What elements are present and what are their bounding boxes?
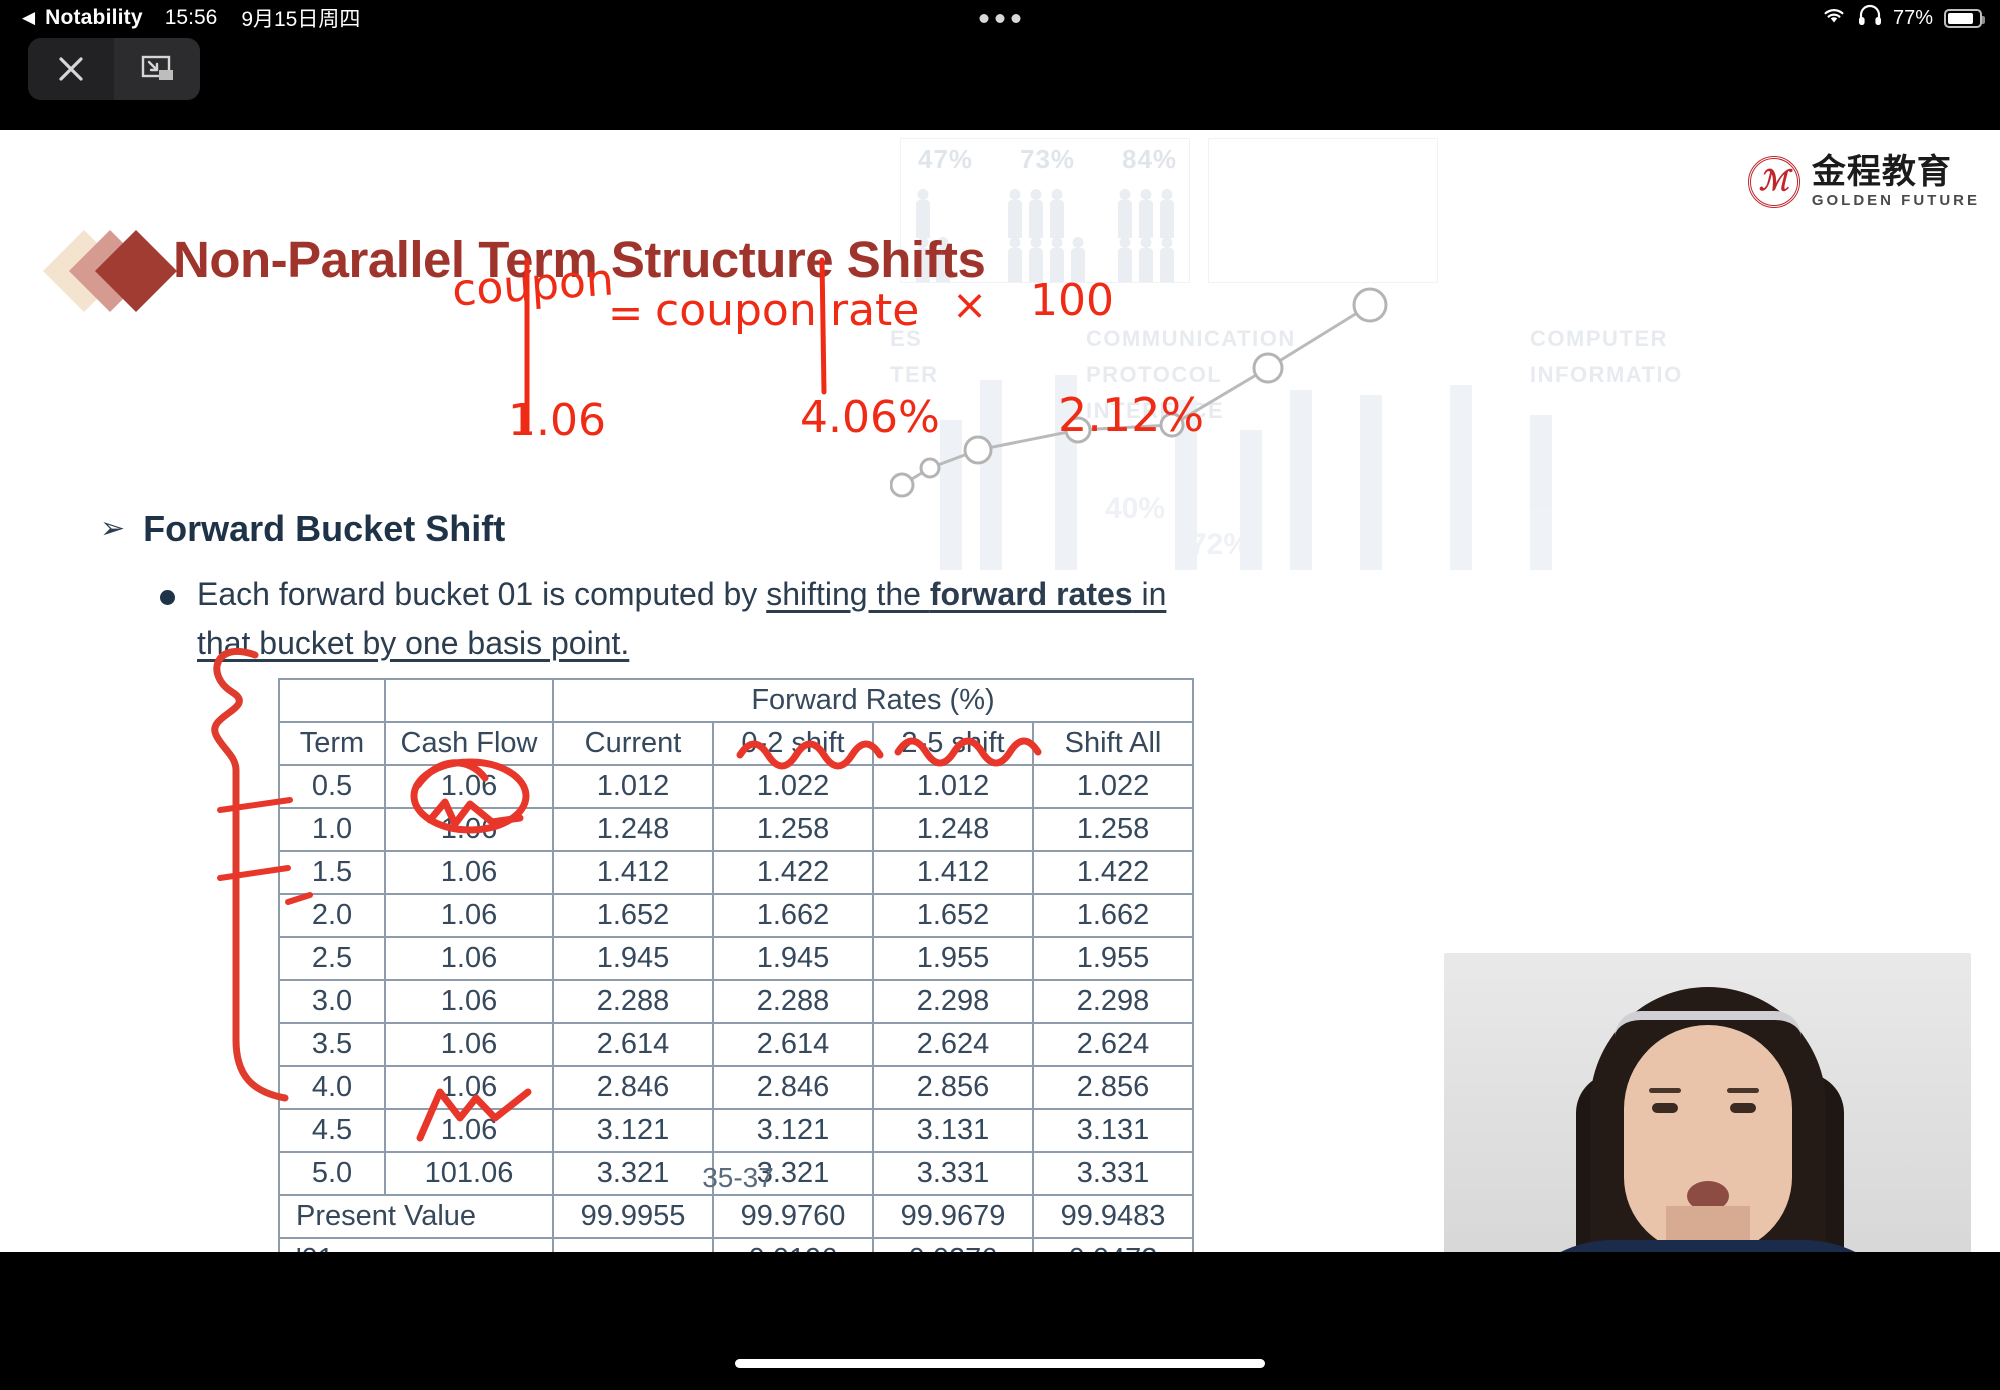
annotation-100: 100 (1030, 275, 1114, 326)
cell-current: 2.846 (553, 1066, 713, 1109)
cell-2-5: 1.248 (873, 808, 1033, 851)
cell-2-5: 1.955 (873, 937, 1033, 980)
battery-percent-label: 77% (1893, 7, 1933, 30)
cell-term: 2.5 (279, 937, 385, 980)
table-summary-row-present-value: Present Value 99.9955 99.9760 99.9679 99… (279, 1195, 1193, 1238)
presenter-headband (1615, 1011, 1801, 1037)
logo-chinese-name: 金程教育 (1812, 155, 1980, 189)
bullet-level1-label: Forward Bucket Shift (143, 508, 505, 550)
bullet-level2-text: Each forward bucket 01 is computed by sh… (197, 570, 1166, 667)
group-header-forward-rates: Forward Rates (%) (553, 679, 1193, 722)
bullet-level2: Each forward bucket 01 is computed by sh… (160, 570, 1190, 667)
cell-current: 2.288 (553, 980, 713, 1023)
col-header-cash-flow: Cash Flow (385, 722, 553, 765)
picture-in-picture-icon (139, 53, 175, 85)
cell-all: 1.955 (1033, 937, 1193, 980)
dynamic-island-dots (980, 14, 1021, 23)
o1-current (553, 1238, 713, 1252)
cell-2-5: 2.298 (873, 980, 1033, 1023)
wifi-icon (1821, 5, 1847, 31)
bg-hex-1: 72% (1190, 528, 1250, 562)
cell-2-5: 2.856 (873, 1066, 1033, 1109)
cell-cash-flow: 1.06 (385, 765, 553, 808)
table-row: 4.51.063.1213.1213.1313.131 (279, 1109, 1193, 1152)
cell-2-5: 3.131 (873, 1109, 1033, 1152)
ios-status-bar: ◀ Notability 15:56 9月15日周四 77% (0, 0, 2000, 36)
bg-hex-0: 40% (1105, 492, 1165, 526)
cell-0-2: 2.288 (713, 980, 873, 1023)
cell-0-2: 1.258 (713, 808, 873, 851)
o1-2-5: 0.0276 (873, 1238, 1033, 1252)
status-date: 9月15日周四 (241, 3, 360, 33)
cell-all: 2.856 (1033, 1066, 1193, 1109)
bullet-level1: ➢ Forward Bucket Shift (100, 508, 505, 550)
col-header-term: Term (279, 722, 385, 765)
cell-cash-flow: 1.06 (385, 1023, 553, 1066)
status-time: 15:56 (165, 6, 218, 30)
logo-seal-glyph: ℳ (1759, 168, 1789, 196)
table-row: 1.51.061.4121.4221.4121.422 (279, 851, 1193, 894)
annotation-rate: rate (830, 285, 919, 336)
close-button[interactable] (28, 38, 114, 100)
cell-current: 1.652 (553, 894, 713, 937)
cell-2-5: 1.412 (873, 851, 1033, 894)
slide-canvas[interactable]: 47% 73% 84% ES TER COMMUNICATION PROTOCO… (0, 130, 2000, 1252)
brand-logo: ℳ 金程教育 GOLDEN FUTURE (1748, 155, 1980, 208)
logo-english-name: GOLDEN FUTURE (1812, 193, 1980, 208)
bg-percent-0: 47% (918, 144, 973, 175)
cell-cash-flow: 1.06 (385, 808, 553, 851)
video-player-controls[interactable] (28, 38, 200, 100)
status-bar-left: ◀ Notability 15:56 9月15日周四 (22, 3, 360, 33)
cell-cash-flow: 1.06 (385, 1066, 553, 1109)
cell-0-2: 2.846 (713, 1066, 873, 1109)
bullet-text-line2: that bucket by one basis point. (197, 625, 629, 661)
bullet-text-underline2: in (1133, 576, 1167, 612)
bg-word-6: INFORMATIO (1530, 362, 1683, 388)
table-row: 2.01.061.6521.6621.6521.662 (279, 894, 1193, 937)
cell-current: 1.412 (553, 851, 713, 894)
cell-term: 3.0 (279, 980, 385, 1023)
cell-term: 4.5 (279, 1109, 385, 1152)
presenter-brow-right (1727, 1088, 1759, 1093)
pv-current: 99.9955 (553, 1195, 713, 1238)
bg-word-0: ES (890, 326, 922, 352)
table-row: 3.51.062.6142.6142.6242.624 (279, 1023, 1193, 1066)
table-summary-row-01: '01 0.0196 0.0276 0.0472 (279, 1238, 1193, 1252)
slide-title-block: Non-Parallel Term Structure Shifts (55, 230, 985, 289)
annotation-num-4-06p: 4.06% (800, 392, 940, 443)
cell-term: 3.5 (279, 1023, 385, 1066)
status-bar-right: 77% (1821, 4, 1982, 32)
cell-cash-flow: 1.06 (385, 937, 553, 980)
table-row: 1.01.061.2481.2581.2481.258 (279, 808, 1193, 851)
presenter-torso (1493, 1240, 1923, 1252)
cell-0-2: 1.945 (713, 937, 873, 980)
table-row: 4.01.062.8462.8462.8562.856 (279, 1066, 1193, 1109)
pv-0-2: 99.9760 (713, 1195, 873, 1238)
col-header-current: Current (553, 722, 713, 765)
bg-word-2: COMMUNICATION (1086, 326, 1296, 352)
cell-0-2: 1.662 (713, 894, 873, 937)
app-root: ◀ Notability 15:56 9月15日周四 77% (0, 0, 2000, 1390)
home-indicator[interactable] (735, 1359, 1265, 1368)
cell-term: 1.0 (279, 808, 385, 851)
cell-all: 1.258 (1033, 808, 1193, 851)
group-blank-term (279, 679, 385, 722)
col-header-2-5-shift: 2-5 shift (873, 722, 1033, 765)
annotation-equals: = (608, 288, 643, 337)
cell-0-2: 1.422 (713, 851, 873, 894)
cell-current: 1.945 (553, 937, 713, 980)
bg-percent-1: 73% (1020, 144, 1075, 175)
cell-0-2: 3.121 (713, 1109, 873, 1152)
cell-cash-flow: 1.06 (385, 1109, 553, 1152)
back-arrow-icon[interactable]: ◀ (22, 9, 35, 26)
o1-all: 0.0472 (1033, 1238, 1193, 1252)
bg-word-1: TER (890, 362, 939, 388)
cell-2-5: 2.624 (873, 1023, 1033, 1066)
battery-icon (1944, 9, 1982, 28)
cell-all: 1.422 (1033, 851, 1193, 894)
bg-word-5: COMPUTER (1530, 326, 1668, 352)
pv-all: 99.9483 (1033, 1195, 1193, 1238)
cell-current: 1.012 (553, 765, 713, 808)
presenter-eye-right (1730, 1103, 1756, 1113)
cell-term: 4.0 (279, 1066, 385, 1109)
cell-0-2: 1.022 (713, 765, 873, 808)
close-icon (54, 52, 88, 86)
cell-all: 1.022 (1033, 765, 1193, 808)
cell-current: 1.248 (553, 808, 713, 851)
bullet-text-part1: Each forward bucket 01 is computed by (197, 576, 766, 612)
previous-app-name[interactable]: Notability (45, 6, 143, 30)
cell-cash-flow: 1.06 (385, 894, 553, 937)
cell-all: 2.298 (1033, 980, 1193, 1023)
table-row: 0.51.061.0121.0221.0121.022 (279, 765, 1193, 808)
picture-in-picture-button[interactable] (114, 38, 200, 100)
presenter-video-thumbnail[interactable] (1444, 953, 1971, 1252)
headphones-icon (1858, 4, 1882, 32)
summary-label-present-value: Present Value (279, 1195, 553, 1238)
annotation-num-2-12p: 2.12% (1058, 388, 1204, 442)
arrow-bullet-icon: ➢ (100, 514, 125, 544)
page-title: Non-Parallel Term Structure Shifts (173, 230, 985, 289)
cell-2-5: 1.652 (873, 894, 1033, 937)
table-header-row: Term Cash Flow Current 0-2 shift 2-5 shi… (279, 722, 1193, 765)
slide-page-number: 35-37 (278, 1162, 1198, 1194)
round-bullet-icon (160, 590, 175, 605)
col-header-shift-all: Shift All (1033, 722, 1193, 765)
annotation-num-1-06: 1.06 (508, 395, 606, 446)
presenter-brow-left (1649, 1088, 1681, 1093)
bg-word-4: INTERFACE (1086, 398, 1224, 424)
cell-term: 1.5 (279, 851, 385, 894)
cell-cash-flow: 1.06 (385, 980, 553, 1023)
annotation-coupon-2: coupon (655, 285, 817, 336)
cell-term: 2.0 (279, 894, 385, 937)
cell-cash-flow: 1.06 (385, 851, 553, 894)
cell-current: 2.614 (553, 1023, 713, 1066)
bullet-text-bold: forward rates (930, 576, 1133, 612)
cell-all: 1.662 (1033, 894, 1193, 937)
bullet-text-underline1: shifting the (766, 576, 930, 612)
logo-seal-icon: ℳ (1748, 156, 1800, 208)
cell-2-5: 1.012 (873, 765, 1033, 808)
presenter-eye-left (1652, 1103, 1678, 1113)
bg-word-3: PROTOCOL (1086, 362, 1222, 388)
pv-2-5: 99.9679 (873, 1195, 1033, 1238)
bg-percent-2: 84% (1122, 144, 1177, 175)
cell-term: 0.5 (279, 765, 385, 808)
table-row: 3.01.062.2882.2882.2982.298 (279, 980, 1193, 1023)
cell-0-2: 2.614 (713, 1023, 873, 1066)
summary-label-01: '01 (279, 1238, 553, 1252)
o1-0-2: 0.0196 (713, 1238, 873, 1252)
group-blank-cashflow (385, 679, 553, 722)
cell-all: 3.131 (1033, 1109, 1193, 1152)
table-row: 2.51.061.9451.9451.9551.955 (279, 937, 1193, 980)
cell-current: 3.121 (553, 1109, 713, 1152)
table-group-header-row: Forward Rates (%) (279, 679, 1193, 722)
cell-all: 2.624 (1033, 1023, 1193, 1066)
col-header-0-2-shift: 0-2 shift (713, 722, 873, 765)
